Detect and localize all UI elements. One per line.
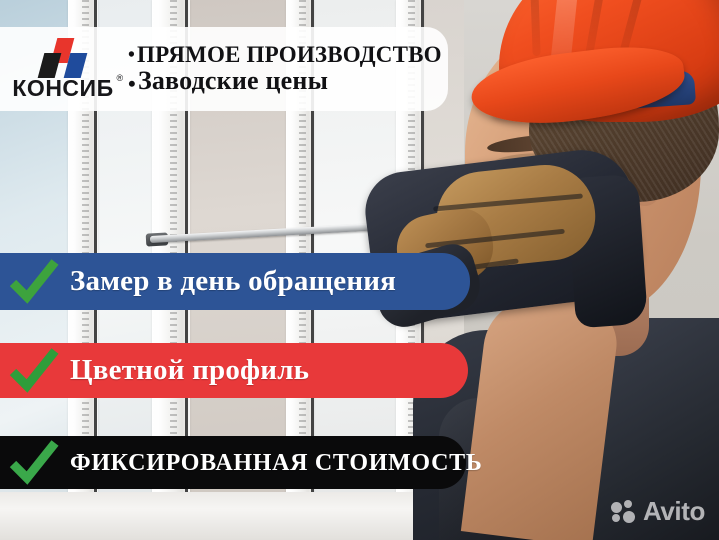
headline-bullet-item: •ПРЯМОЕ ПРОИЗВОДСТВО (128, 43, 442, 67)
brand-name-text: КОНСИБ (12, 75, 113, 101)
headline-bullet-list: •ПРЯМОЕ ПРОИЗВОДСТВО •Заводские цены (128, 43, 442, 95)
headline-bullet-item: •Заводские цены (128, 67, 442, 95)
bullet-dot-icon: • (128, 71, 136, 96)
avito-dots-logo-icon (611, 500, 637, 522)
brand-logo: КОНСИБ® (4, 38, 122, 100)
green-checkmark-icon (10, 259, 58, 305)
feature-label: Цветной профиль (70, 356, 309, 385)
headline-bullet-text: Заводские цены (138, 66, 328, 95)
three-diamond-logo-icon (33, 38, 93, 76)
green-checkmark-icon (10, 348, 58, 394)
feature-banner-measurement: Замер в день обращения (0, 253, 470, 310)
registered-mark: ® (116, 74, 123, 83)
green-checkmark-icon (10, 440, 58, 486)
bullet-dot-icon: • (128, 45, 135, 66)
feature-label: ФИКСИРОВАННАЯ СТОИМОСТЬ (70, 451, 482, 475)
avito-watermark: Avito (611, 496, 705, 526)
headline-banner: КОНСИБ® •ПРЯМОЕ ПРОИЗВОДСТВО •Заводские … (0, 27, 448, 111)
avito-wordmark: Avito (643, 498, 705, 524)
advertisement-image: КОНСИБ® •ПРЯМОЕ ПРОИЗВОДСТВО •Заводские … (0, 0, 719, 540)
brand-name: КОНСИБ® (12, 77, 113, 100)
feature-banner-fixed-price: ФИКСИРОВАННАЯ СТОИМОСТЬ (0, 436, 466, 489)
feature-banner-color-profile: Цветной профиль (0, 343, 468, 398)
feature-label: Замер в день обращения (70, 267, 396, 296)
headline-bullet-text: ПРЯМОЕ ПРОИЗВОДСТВО (137, 42, 442, 67)
